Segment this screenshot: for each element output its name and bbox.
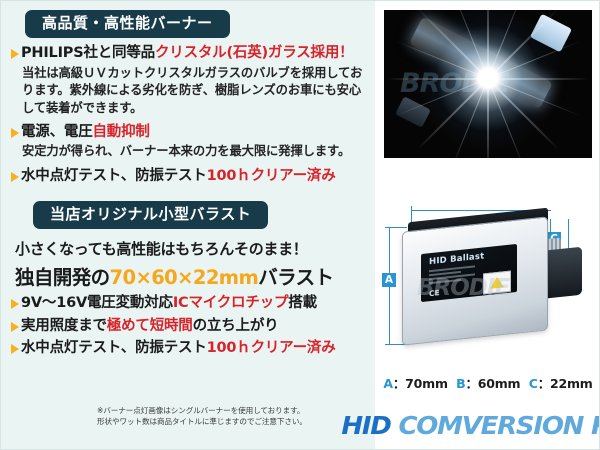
legend-value-a: ：70mm <box>393 376 448 391</box>
bullet-item: 電源、電圧自動抑制 <box>11 124 365 141</box>
dim-callout-a: A <box>382 273 396 287</box>
bullet-heading-pre: 実用照度まで <box>21 318 107 334</box>
kit-banner-text: HID COMVERSION KIT <box>341 411 600 440</box>
bullet-heading: 水中点灯テスト、防振テスト100ｈクリアー済み <box>21 340 336 357</box>
legend-letter-a: A <box>383 376 392 391</box>
bulb-glow-effect <box>413 10 563 153</box>
bullet-heading: 9V～16V電圧変動対応ICマイクロチップ搭載 <box>21 295 317 312</box>
section-2-badge: 当店オリジナル小型バラスト <box>33 201 268 229</box>
disclaimer-note: ※バーナー点灯画像はシングルバーナーを使用しております。 形状やワット数は商品タ… <box>97 405 307 428</box>
headline-dimensions: 70×60×22mm <box>110 266 259 289</box>
bullet-heading-post: の立ち上がり <box>193 318 279 334</box>
bullet-heading: 実用照度まで極めて短時間の立ち上がり <box>21 318 278 335</box>
dim-tick-a-top <box>385 227 407 228</box>
kit-banner-hid: HID <box>341 411 390 440</box>
bullet-item: 水中点灯テスト、防振テスト100ｈクリアー済み <box>11 340 365 357</box>
triangle-bullet-icon <box>11 299 19 309</box>
bullet-item: 実用照度まで極めて短時間の立ち上がり <box>11 318 365 335</box>
legend-value-b: ：60mm <box>465 376 520 391</box>
section-2-headline: 独自開発の70×60×22mmバラスト <box>15 261 365 290</box>
bullet-heading-emphasis: 自動抑制 <box>93 124 150 140</box>
kit-banner-rest: COMVERSION KIT <box>391 411 600 440</box>
bullet-heading-post: 搭載 <box>288 295 317 311</box>
section-1-badge-wrap: 高品質・高性能バーナー <box>11 10 365 38</box>
left-info-panel: 高品質・高性能バーナー PHILIPS社と同等品クリスタル(石英)ガラス採用！ … <box>1 1 375 450</box>
bullet-heading-emphasis: クリスタル(石英)ガラス採用！ <box>155 45 353 61</box>
bullet-item: 水中点灯テスト、防振テスト100ｈクリアー済み <box>11 168 365 185</box>
bullet-body-text: 安定力が得られ、バーナー本来の力を最大限に発揮します。 <box>22 143 365 160</box>
dim-tick-b-left <box>411 206 412 222</box>
legend-letter-c: C <box>529 376 538 391</box>
advertisement-page: 高品質・高性能バーナー PHILIPS社と同等品クリスタル(石英)ガラス採用！ … <box>0 0 600 450</box>
bullet-heading: PHILIPS社と同等品クリスタル(石英)ガラス採用！ <box>21 45 353 62</box>
bullet-heading: 水中点灯テスト、防振テスト100ｈクリアー済み <box>21 168 336 185</box>
bullet-heading-pre: 水中点灯テスト、防振テスト <box>21 340 207 356</box>
disclaimer-line-2: 形状やワット数は商品タイトルに準じますのでご注意下さい。 <box>97 416 307 427</box>
triangle-bullet-icon <box>11 344 19 354</box>
bullet-item: PHILIPS社と同等品クリスタル(石英)ガラス採用！ <box>11 45 365 62</box>
triangle-bullet-icon <box>11 128 19 138</box>
bullet-heading-emphasis: ICマイクロチップ <box>173 295 288 311</box>
bullet-item: 9V～16V電圧変動対応ICマイクロチップ搭載 <box>11 295 365 312</box>
legend-value-c: ：22mm <box>538 376 593 391</box>
triangle-bullet-icon <box>11 172 19 182</box>
triangle-bullet-icon <box>11 322 19 332</box>
bullet-heading-emphasis: 100ｈクリアー済み <box>207 340 336 356</box>
bullet-heading-emphasis: 極めて短時間 <box>107 318 193 334</box>
section-2-badge-wrap: 当店オリジナル小型バラスト <box>11 201 365 229</box>
bullet-heading: 電源、電圧自動抑制 <box>21 124 150 141</box>
ballast-photo: A B C HID Ballast <box>375 197 600 369</box>
bullet-heading-pre: 水中点灯テスト、防振テスト <box>21 168 207 184</box>
bullet-heading-pre: 9V～16V電圧変動対応 <box>21 295 173 311</box>
bullet-heading-pre: PHILIPS社と同等品 <box>21 45 155 61</box>
hid-bulb-photo: BRODIE <box>384 10 592 158</box>
right-media-panel: BRODIE A B C HID Ballast <box>375 1 600 450</box>
ballast-photo-watermark: BRODIE <box>417 275 509 301</box>
section-1-badge: 高品質・高性能バーナー <box>25 10 230 38</box>
bullet-body-text: 当社は高級ＵＶカットクリスタルガラスのバルブを採用しております。紫外線による劣化… <box>22 65 365 117</box>
dimension-legend: A：70mm B：60mm C：22mm <box>375 373 600 392</box>
kit-banner: HID COMVERSION KIT <box>375 399 600 450</box>
headline-pre: 独自開発の <box>15 266 110 289</box>
disclaimer-line-1: ※バーナー点灯画像はシングルバーナーを使用しております。 <box>97 405 307 416</box>
bullet-heading-emphasis: 100ｈクリアー済み <box>207 168 336 184</box>
section-2-tagline: 小さくなっても高性能はもちろんそのまま！ <box>15 238 365 259</box>
triangle-bullet-icon <box>11 49 19 59</box>
headline-post: バラスト <box>258 266 333 289</box>
bullet-heading-pre: 電源、電圧 <box>21 124 93 140</box>
